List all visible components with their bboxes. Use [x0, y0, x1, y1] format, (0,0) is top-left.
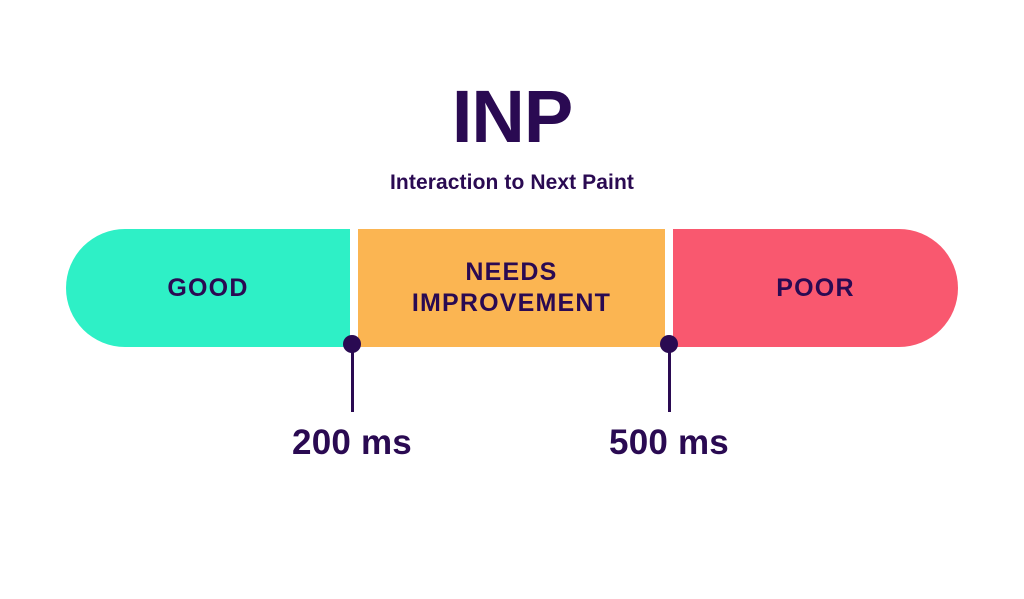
heading-block: INP Interaction to Next Paint: [0, 78, 1024, 196]
segment-needs-improvement: NEEDS IMPROVEMENT: [358, 229, 665, 347]
inp-rating-infographic: INP Interaction to Next Paint GOOD NEEDS…: [0, 0, 1024, 599]
segment-good: GOOD: [66, 229, 350, 347]
threshold-label-500: 500 ms: [519, 423, 819, 463]
segment-poor: POOR: [673, 229, 958, 347]
threshold-stem-icon: [351, 344, 354, 412]
threshold-stem-icon: [668, 344, 671, 412]
page-subtitle: Interaction to Next Paint: [0, 156, 1024, 196]
segment-good-label: GOOD: [167, 273, 248, 304]
threshold-label-200: 200 ms: [202, 423, 502, 463]
segment-needs-improvement-label: NEEDS IMPROVEMENT: [412, 257, 611, 319]
segment-poor-label: POOR: [776, 273, 854, 304]
page-title: INP: [0, 78, 1024, 156]
rating-bar: GOOD NEEDS IMPROVEMENT POOR: [66, 229, 958, 347]
